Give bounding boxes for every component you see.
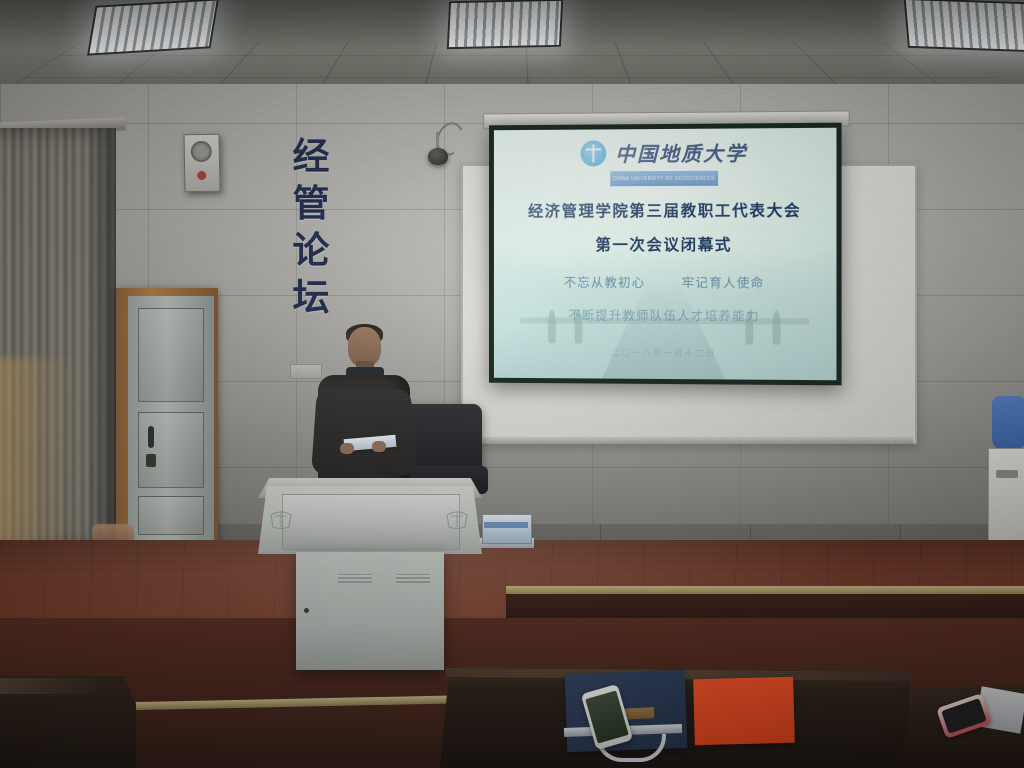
lectern-vent [396, 574, 430, 583]
equipment-box [482, 514, 532, 544]
projection-screen: 中国地质大学 CHINA UNIVERSITY OF GEOSCIENCES 经… [489, 123, 842, 386]
water-bottle [992, 396, 1024, 452]
security-camera-icon [428, 148, 448, 165]
calligraphy-char-1: 经 [293, 134, 330, 178]
slide-slogan-right: 牢记育人使命 [682, 275, 765, 290]
projected-slide: 中国地质大学 CHINA UNIVERSITY OF GEOSCIENCES 经… [494, 128, 837, 381]
lectern-vent [338, 574, 372, 583]
whiteboard-rail [461, 437, 913, 444]
slide-slogan-line1: 不忘从教初心 牢记育人使命 [494, 272, 837, 292]
slide-university-name: 中国地质大学 [615, 137, 747, 167]
door-lock-icon [146, 454, 156, 467]
lectern-latch[interactable] [304, 608, 309, 613]
lectern-base-cabinet [296, 552, 444, 670]
wall-calligraphy: 经 管 论 坛 [279, 134, 343, 319]
calligraphy-char-3: 论 [293, 228, 330, 272]
calligraphy-char-2: 管 [293, 181, 330, 225]
door-handle[interactable] [148, 426, 154, 448]
speaker-indicator-icon [197, 171, 206, 180]
room-door[interactable] [128, 296, 214, 543]
calligraphy-char-4: 坛 [293, 275, 330, 319]
speaker-person [306, 327, 418, 502]
slide-date: 二〇一八年一月十二日 [494, 346, 837, 360]
slide-slogan-left: 不忘从教初心 [564, 275, 646, 290]
door-frame [116, 288, 218, 543]
lectern-emblem-icon [268, 508, 294, 530]
slide-university-name-en: CHINA UNIVERSITY OF GEOSCIENCES [610, 171, 718, 186]
wall-speaker [183, 134, 220, 193]
orange-folder[interactable] [693, 677, 795, 746]
slide-title-line1: 经济管理学院第三届教职工代表大会 [494, 198, 837, 221]
stage-step-face [506, 594, 1024, 618]
photo-scene: 经 管 论 坛 中国地质大学 CHINA UNIVER [0, 0, 1024, 768]
speaker-grille-icon [191, 141, 212, 162]
university-emblem-icon [581, 140, 607, 166]
window-curtain [0, 128, 116, 548]
ceiling [0, 0, 1024, 92]
water-dispenser [988, 396, 1024, 546]
lectern-emblem-icon [444, 508, 470, 530]
slide-slogan-line2: 不断提升教师队伍人才培养能力 [494, 304, 837, 324]
dispenser-tap[interactable] [996, 470, 1018, 478]
slide-title-line2: 第一次会议闭幕式 [494, 233, 837, 255]
